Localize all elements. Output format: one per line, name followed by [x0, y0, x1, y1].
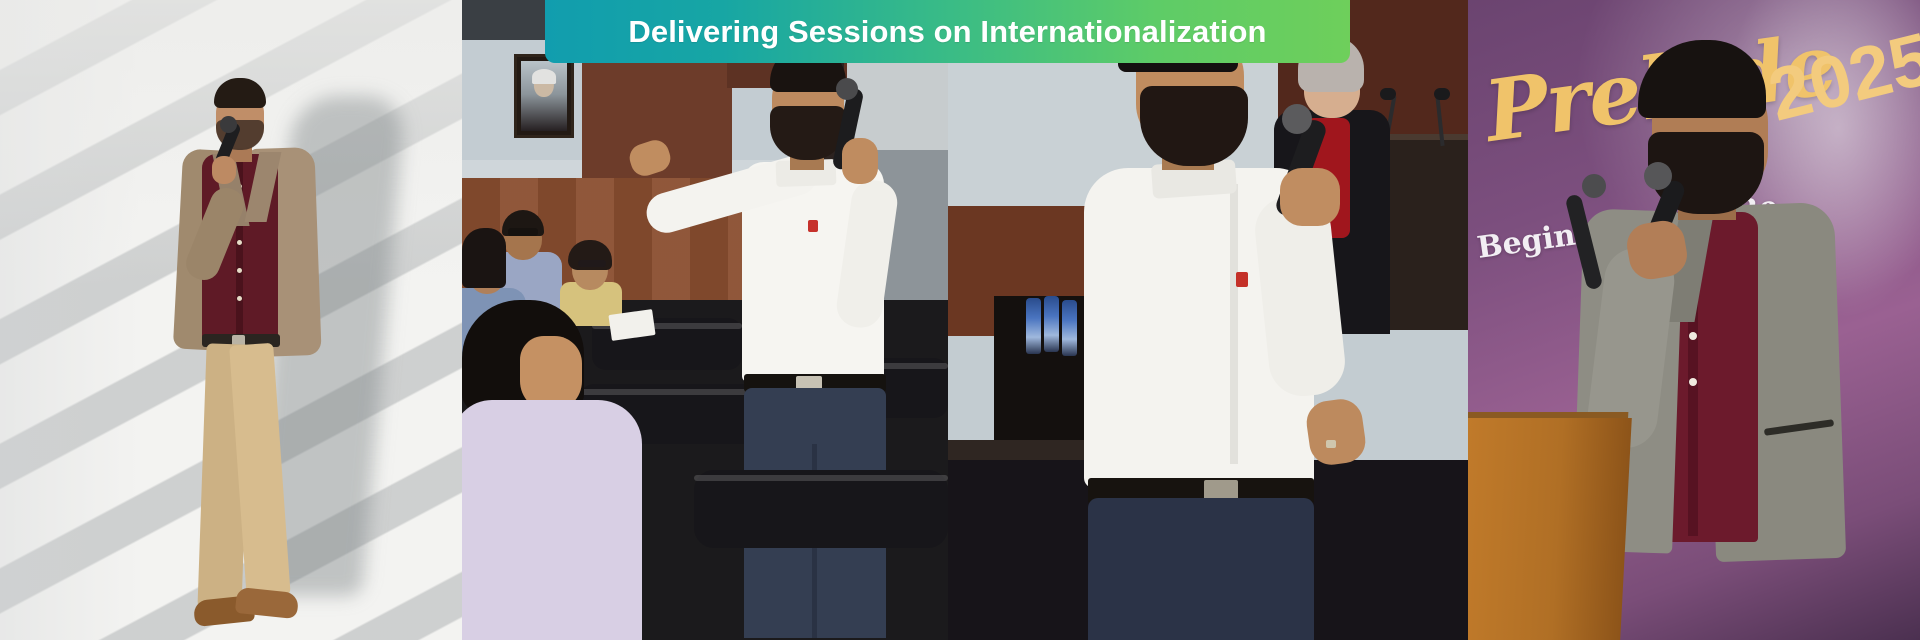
shirt-pocket-logo	[808, 220, 818, 232]
shirt-button	[237, 240, 242, 245]
podium-mic-head	[1434, 88, 1450, 100]
collage-panel-4: Prelude 2025 Begin. Belong. Be	[1468, 0, 1920, 640]
hand-holding-microphone	[842, 138, 878, 184]
audience-member-hair	[462, 228, 506, 288]
second-microphone-head	[1582, 174, 1606, 198]
hand	[212, 156, 236, 184]
panel-1-photo	[0, 0, 462, 640]
collage-panel-2	[462, 0, 948, 640]
hair	[1638, 40, 1766, 118]
shirt-button	[237, 296, 242, 301]
shirt-pocket-logo	[1236, 272, 1248, 287]
chair-highlight	[694, 475, 948, 481]
panel-3-photo	[948, 0, 1468, 640]
audience-chair-foreground	[694, 470, 948, 548]
speaker-figure-panel-3	[1058, 0, 1418, 640]
wooden-lectern	[1468, 418, 1632, 640]
microphone-head	[1644, 162, 1672, 190]
panel-2-photo	[462, 0, 948, 640]
trousers	[1088, 498, 1314, 640]
image-collage: Prelude 2025 Begin. Belong. Be	[0, 0, 1920, 640]
panel-4-photo: Prelude 2025 Begin. Belong. Be	[1468, 0, 1920, 640]
speaker-figure-panel-1	[140, 78, 330, 640]
finger-ring	[1326, 440, 1336, 448]
banner-title-text: Delivering Sessions on Internationalizat…	[628, 14, 1266, 50]
foreground-audience-hoodie	[462, 400, 642, 640]
shirt-placket	[1230, 184, 1238, 464]
audience-member-glasses	[508, 228, 538, 236]
belt-buckle	[1204, 480, 1238, 500]
portrait-hair	[532, 69, 556, 84]
portrait-image	[521, 61, 567, 131]
speaker-figure-panel-2	[648, 44, 948, 640]
audience-member-glasses	[578, 260, 606, 267]
shirt-button	[237, 268, 242, 273]
beard	[1140, 86, 1248, 166]
shirt-button	[1689, 378, 1697, 386]
collage-panel-3	[948, 0, 1468, 640]
water-bottle	[1026, 298, 1041, 354]
water-bottle	[1044, 296, 1059, 352]
microphone-head	[220, 116, 237, 133]
title-banner: Delivering Sessions on Internationalizat…	[545, 0, 1350, 63]
shirt-button	[1689, 332, 1697, 340]
framed-portrait	[514, 54, 574, 138]
collage-panel-1	[0, 0, 462, 640]
hair	[214, 78, 266, 108]
microphone-head	[836, 78, 858, 100]
microphone-head	[1282, 104, 1312, 134]
hand-holding-microphone	[1280, 168, 1340, 226]
